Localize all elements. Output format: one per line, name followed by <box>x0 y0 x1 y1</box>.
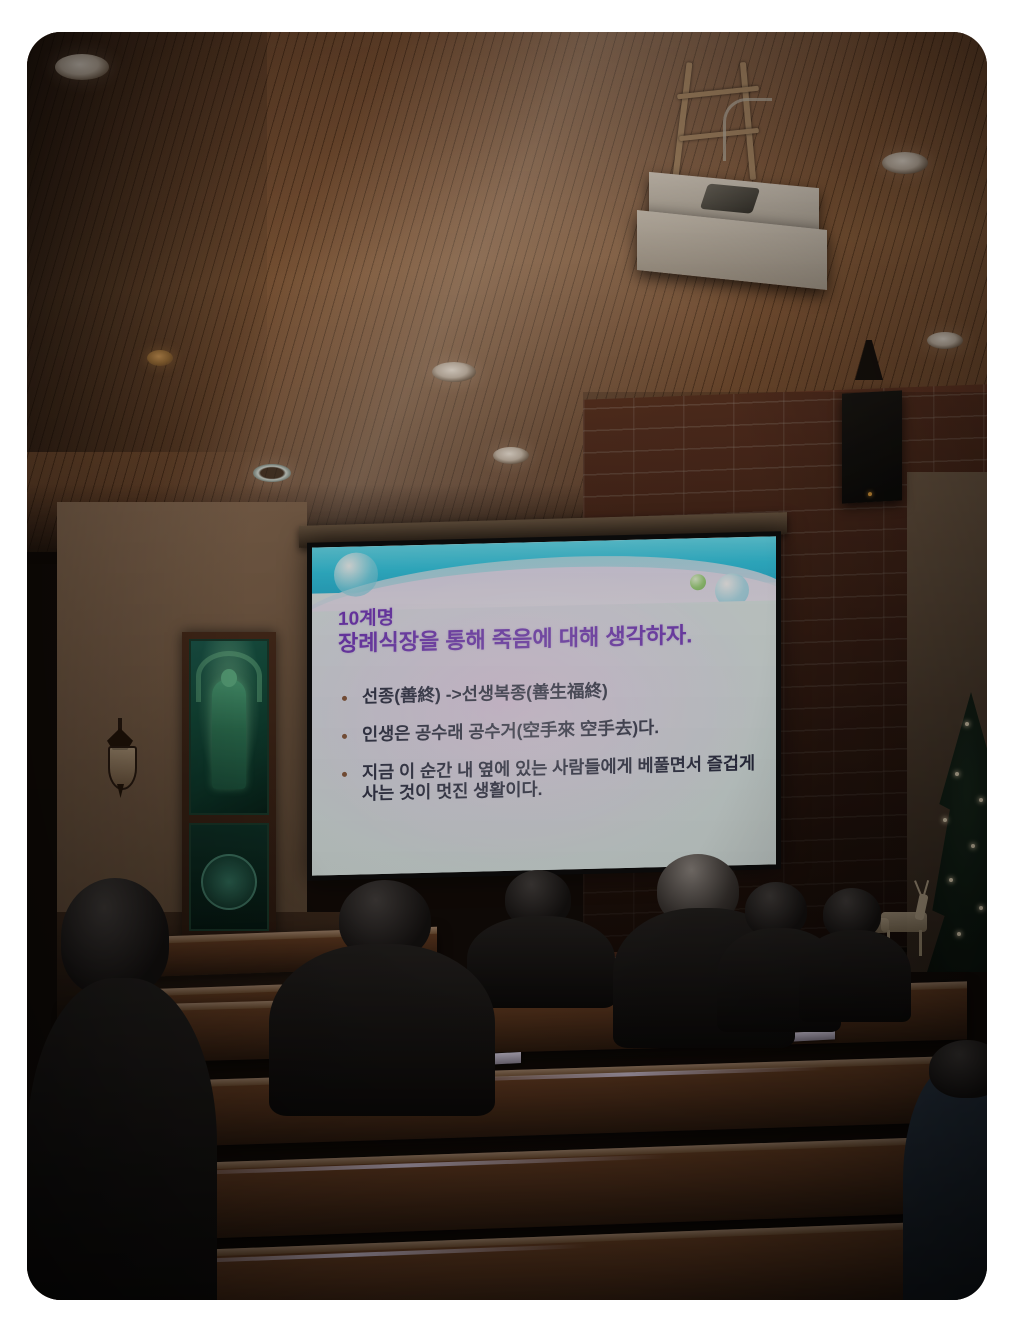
stained-glass-figure-head <box>221 669 237 687</box>
stained-glass-saint-figure <box>212 679 246 789</box>
slide-bullet-item: 선종(善終) ->선생복종(善生福終) <box>334 676 770 708</box>
ceiling-downlight <box>927 332 963 349</box>
photograph: EPSON <box>27 32 987 1300</box>
ceiling-downlight <box>882 152 928 174</box>
ceiling-shadow-left <box>27 32 267 452</box>
pew-light-reflection <box>427 1066 827 1083</box>
pew-light-reflection <box>147 1154 667 1176</box>
slide-title: 10계명 장례식장을 통해 죽음에 대해 생각하자. <box>338 599 765 657</box>
sconce-finial <box>117 784 124 798</box>
pew-row-front <box>27 1220 987 1300</box>
audience-head-foreground-right <box>929 1040 987 1098</box>
ceiling-downlight <box>253 464 291 482</box>
book-on-pew <box>773 1030 835 1042</box>
slide-surface: 10계명 장례식장을 통해 죽음에 대해 생각하자. 선종(善終) ->선생복종… <box>312 536 776 875</box>
stained-glass-window <box>182 632 276 942</box>
projection-screen: 10계명 장례식장을 통해 죽음에 대해 생각하자. 선종(善終) ->선생복종… <box>307 531 781 881</box>
pew-row <box>27 1135 987 1245</box>
book-on-pew <box>445 1052 521 1067</box>
audience-shoulders-foreground-right <box>903 1064 987 1300</box>
slide-bullet-list: 선종(善終) ->선생복종(善生福終) 인생은 공수래 공수거(空手來 空手去)… <box>334 676 770 822</box>
stained-glass-upper-panel <box>189 639 269 815</box>
ceiling-downlight <box>147 350 173 366</box>
stained-glass-lower-panel <box>189 823 269 931</box>
pew-backrest-top <box>47 1055 977 1091</box>
pew-light-reflection <box>487 990 827 1003</box>
stained-glass-medallion <box>201 854 257 910</box>
ceiling-downlight <box>432 362 476 382</box>
sconce-glass <box>108 746 137 790</box>
side-wall-right <box>907 472 987 972</box>
ceiling-downlight <box>55 54 109 80</box>
pew-backrest-top <box>27 1135 987 1176</box>
pew-light-reflection <box>117 1244 587 1266</box>
projector-assembly: EPSON <box>627 62 857 312</box>
speaker-led-icon <box>868 492 872 496</box>
projector-cable <box>723 98 772 161</box>
slide-content: 10계명 장례식장을 통해 죽음에 대해 생각하자. 선종(善終) ->선생복종… <box>312 536 776 875</box>
ceiling-downlight <box>493 447 529 464</box>
projector-mount-rod <box>671 62 692 186</box>
wall-speaker <box>842 390 902 503</box>
pew-backrest-top <box>27 1220 987 1264</box>
audience-head <box>505 870 571 928</box>
slide-bullet-line-1: 지금 이 순간 내 옆에 있는 사람들에게 베풀 <box>362 755 670 783</box>
slide-bullet-item: 지금 이 순간 내 옆에 있는 사람들에게 베풀면서 즐겁게 사는 것이 멋진 … <box>334 752 770 805</box>
slide-bullet-item: 인생은 공수래 공수거(空手來 空手去)다. <box>334 714 770 746</box>
projector-lens <box>700 184 760 214</box>
wall-sconce-lamp <box>99 718 143 804</box>
pew-row <box>47 1055 977 1150</box>
